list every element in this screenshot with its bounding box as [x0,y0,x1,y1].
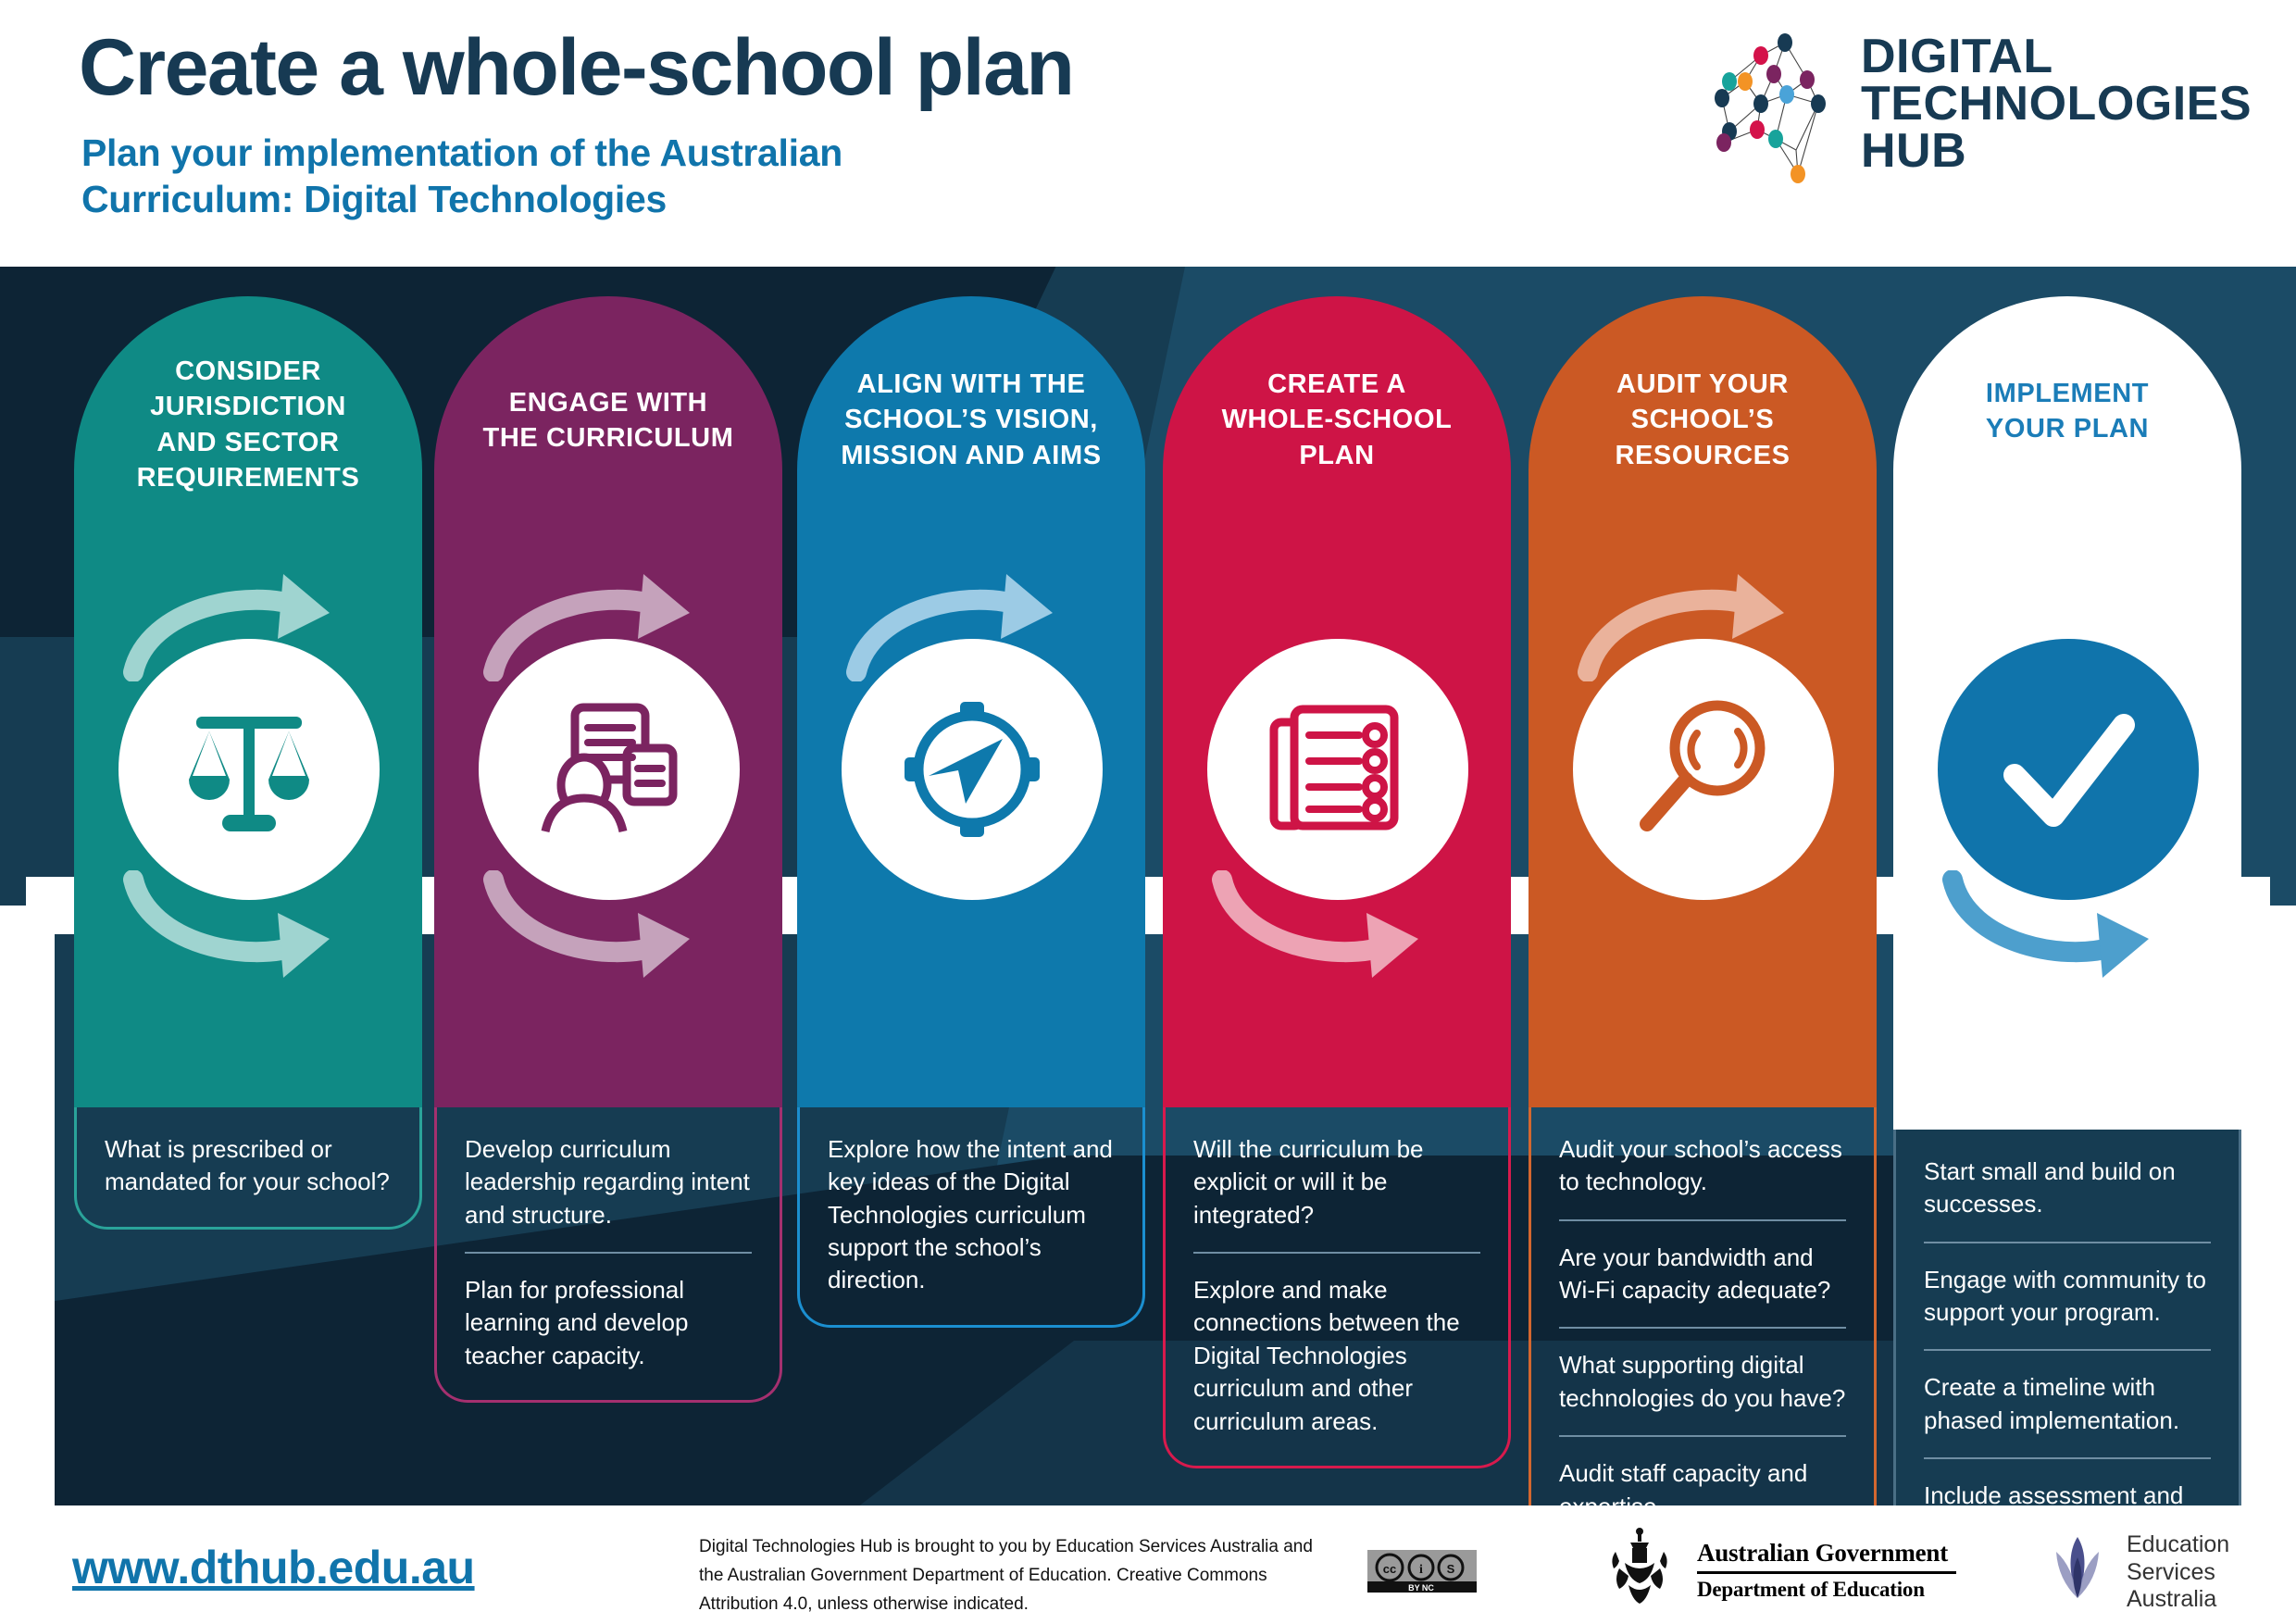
subtitle-line-2: Curriculum: Digital Technologies [81,176,842,222]
card-separator [1924,1242,2211,1243]
card-separator [1559,1327,1846,1329]
step-3-heading: ALIGN WITH THE SCHOOL’S VISION, MISSION … [797,367,1145,473]
person-documents-icon [530,691,688,848]
step-4-icon-circle [1207,639,1468,900]
card-item: Engage with community to support your pr… [1924,1264,2211,1330]
heading-line: AND SECTOR [96,425,400,460]
heading-line: ALIGN WITH THE [819,367,1123,402]
step-1-heading: CONSIDER JURISDICTION AND SECTOR REQUIRE… [74,354,422,495]
australian-government-logo: Australian Government Department of Educ… [1597,1522,1958,1611]
card-item: Will the curriculum be explicit or will … [1193,1133,1480,1231]
step-5-heading: AUDIT YOUR SCHOOL’S RESOURCES [1529,367,1877,473]
commonwealth-coat-of-arms-icon [1597,1524,1682,1609]
card-separator [1193,1252,1480,1254]
card-item: Develop curriculum leadership regarding … [465,1133,752,1231]
logo-line-1: DIGITAL [1861,33,2252,81]
svg-text:cc: cc [1383,1562,1396,1576]
card-separator [1559,1219,1846,1221]
heading-line: REQUIREMENTS [96,460,400,495]
esa-flower-icon [2041,1531,2114,1604]
step-3-icon-circle [842,639,1103,900]
heading-line: RESOURCES [1551,438,1854,473]
heading-line: IMPLEMENT [1915,376,2219,411]
step-4-card: Will the curriculum be explicit or will … [1163,1107,1511,1468]
subtitle-line-1: Plan your implementation of the Australi… [81,130,842,176]
card-separator [1559,1435,1846,1437]
gov-line-2: Department of Education [1697,1578,1956,1602]
step-6-heading: IMPLEMENT YOUR PLAN [1893,376,2241,447]
attribution-text: Digital Technologies Hub is brought to y… [699,1533,1338,1618]
heading-line: MISSION AND AIMS [819,438,1123,473]
card-separator [1924,1457,2211,1459]
network-graph-icon [1703,28,1852,183]
website-url-link[interactable]: www.dthub.edu.au [72,1541,475,1594]
logo-wordmark: DIGITAL TECHNOLOGIES HUB [1861,33,2252,175]
checklist-icon [1259,691,1416,848]
heading-line: SCHOOL’S VISION, [819,402,1123,437]
checkmark-icon [1985,686,2152,853]
step-3-card: Explore how the intent and key ideas of … [797,1107,1145,1328]
step-2-card: Develop curriculum leadership regarding … [434,1107,782,1403]
heading-line: THE CURRICULUM [456,420,760,456]
heading-line: WHOLE-SCHOOL [1185,402,1489,437]
card-item: Audit staff capacity and expertise. [1559,1457,1846,1505]
page-subtitle: Plan your implementation of the Australi… [81,130,842,222]
svg-text:S: S [1447,1562,1455,1576]
card-item: Plan for professional learning and devel… [465,1274,752,1372]
esa-line-1: Education [2127,1531,2229,1559]
heading-line: SCHOOL’S [1551,402,1854,437]
heading-line: ENGAGE WITH [456,385,760,420]
step-5-icon-circle [1573,639,1834,900]
page-footer: www.dthub.edu.au Digital Technologies Hu… [0,1505,2296,1624]
heading-line: CREATE A [1185,367,1489,402]
heading-line: YOUR PLAN [1915,411,2219,446]
page-header: Create a whole-school plan Plan your imp… [0,0,2296,267]
card-separator [1924,1349,2211,1351]
creative-commons-badge-icon: cc i S BY NC [1367,1550,1477,1593]
card-item: What supporting digital technologies do … [1559,1349,1846,1415]
card-item: Explore how the intent and key ideas of … [828,1133,1115,1297]
card-item: Create a timeline with phased implementa… [1924,1371,2211,1437]
step-1-icon-circle [119,639,380,900]
education-services-australia-logo: Education Services Australia [2041,1530,2273,1607]
magnifier-icon [1625,691,1782,848]
step-6-icon-circle [1938,639,2199,900]
heading-line: PLAN [1185,438,1489,473]
card-item: Are your bandwidth and Wi-Fi capacity ad… [1559,1242,1846,1307]
svg-text:i: i [1419,1563,1423,1577]
compass-icon [893,691,1051,848]
gov-line-1: Australian Government [1697,1539,1956,1568]
gov-divider [1697,1571,1956,1574]
page-title: Create a whole-school plan [79,26,1073,109]
step-6-card: Start small and build on successes. Enga… [1893,1130,2241,1505]
step-1-card: What is prescribed or mandated for your … [74,1107,422,1230]
card-item: What is prescribed or mandated for your … [105,1133,392,1199]
logo-line-2: TECHNOLOGIES [1861,81,2252,128]
heading-line: CONSIDER [96,354,400,389]
step-2-heading: ENGAGE WITH THE CURRICULUM [434,385,782,456]
card-item: Audit your school’s access to technology… [1559,1133,1846,1199]
logo-line-3: HUB [1861,128,2252,175]
esa-line-3: Australia [2127,1586,2229,1614]
heading-line: AUDIT YOUR [1551,367,1854,402]
scales-icon [170,691,328,848]
card-separator [465,1252,752,1254]
card-item: Start small and build on successes. [1924,1156,2211,1221]
heading-line: JURISDICTION [96,389,400,424]
card-item: Include assessment and reporting. [1924,1480,2211,1505]
step-2-icon-circle [479,639,740,900]
step-5-card: Audit your school’s access to technology… [1529,1107,1877,1505]
svg-text:BY NC: BY NC [1408,1583,1434,1593]
process-diagram: CONSIDER JURISDICTION AND SECTOR REQUIRE… [0,267,2296,1505]
step-4-heading: CREATE A WHOLE-SCHOOL PLAN [1163,367,1511,473]
card-item: Explore and make connections between the… [1193,1274,1480,1438]
digital-technologies-hub-logo: DIGITAL TECHNOLOGIES HUB [1685,20,2296,196]
esa-line-2: Services [2127,1559,2229,1587]
